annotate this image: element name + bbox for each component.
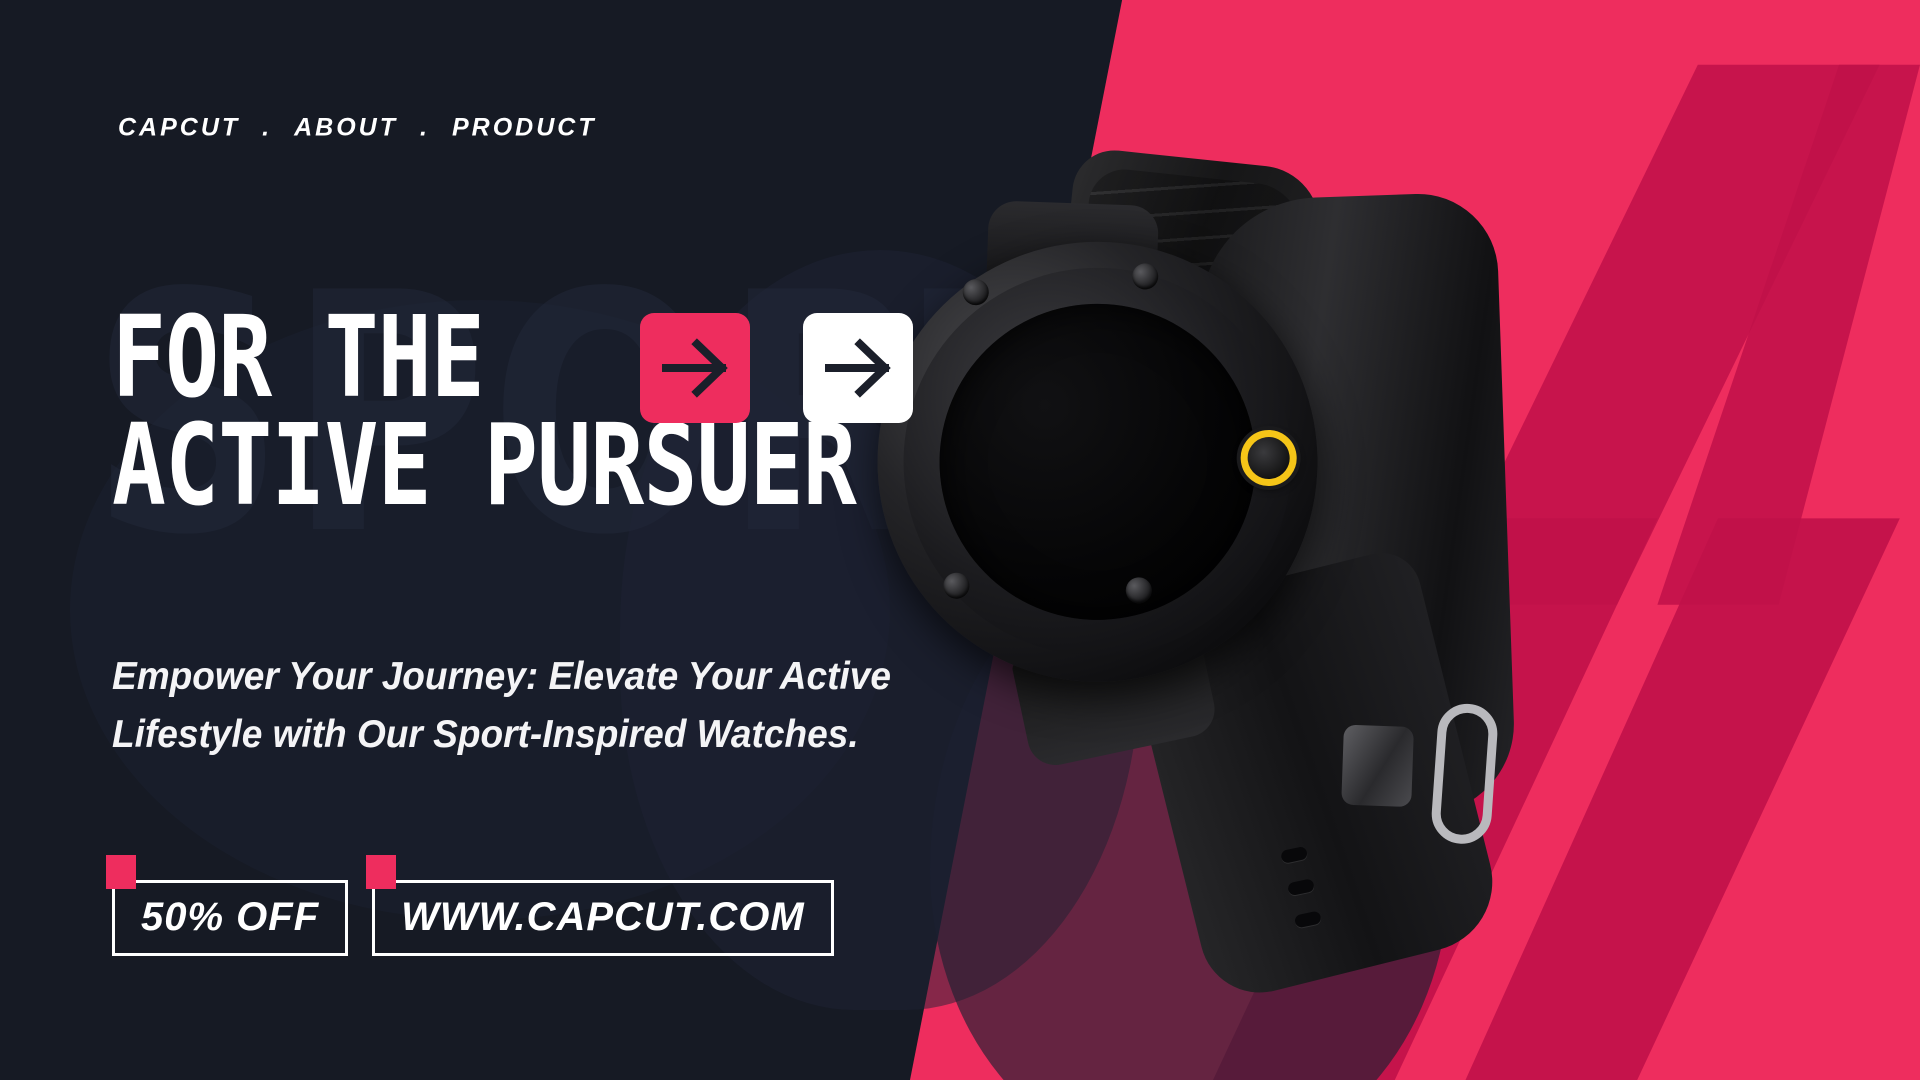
discount-badge-label: 50% OFF	[112, 880, 348, 956]
product-watch-image	[829, 101, 1690, 979]
nav-separator: .	[262, 114, 272, 143]
nav-separator: .	[420, 114, 430, 143]
arrow-right-pink-button[interactable]	[640, 313, 750, 423]
badge-corner-marker	[106, 855, 136, 889]
headline-line-2: ACTIVE PURSUER	[112, 413, 856, 521]
nav-item-capcut[interactable]: CAPCUT	[118, 114, 240, 143]
subtitle-line-1: Empower Your Journey: Elevate Your Activ…	[112, 655, 891, 698]
hero-banner: SPORT CAPCUT . ABOUT . PRODUCT FOR THE A…	[0, 0, 1920, 1080]
arrow-right-icon	[825, 337, 891, 399]
badge-corner-marker	[366, 855, 396, 889]
nav-item-about[interactable]: ABOUT	[294, 114, 398, 143]
watch-buckle	[1341, 725, 1414, 807]
arrow-button-group	[640, 313, 913, 423]
discount-badge[interactable]: 50% OFF	[112, 880, 348, 956]
top-navigation: CAPCUT . ABOUT . PRODUCT	[118, 114, 597, 143]
website-badge-label: WWW.CAPCUT.COM	[372, 880, 834, 956]
nav-item-product[interactable]: PRODUCT	[452, 114, 597, 143]
watch-buckle-ring	[1430, 702, 1500, 846]
subtitle-line-2: Lifestyle with Our Sport-Inspired Watche…	[112, 713, 859, 756]
website-badge[interactable]: WWW.CAPCUT.COM	[372, 880, 834, 956]
badge-group: 50% OFF WWW.CAPCUT.COM	[112, 880, 834, 956]
hero-subtitle: Empower Your Journey: Elevate Your Activ…	[112, 648, 891, 763]
arrow-right-icon	[662, 337, 728, 399]
arrow-right-white-button[interactable]	[803, 313, 913, 423]
